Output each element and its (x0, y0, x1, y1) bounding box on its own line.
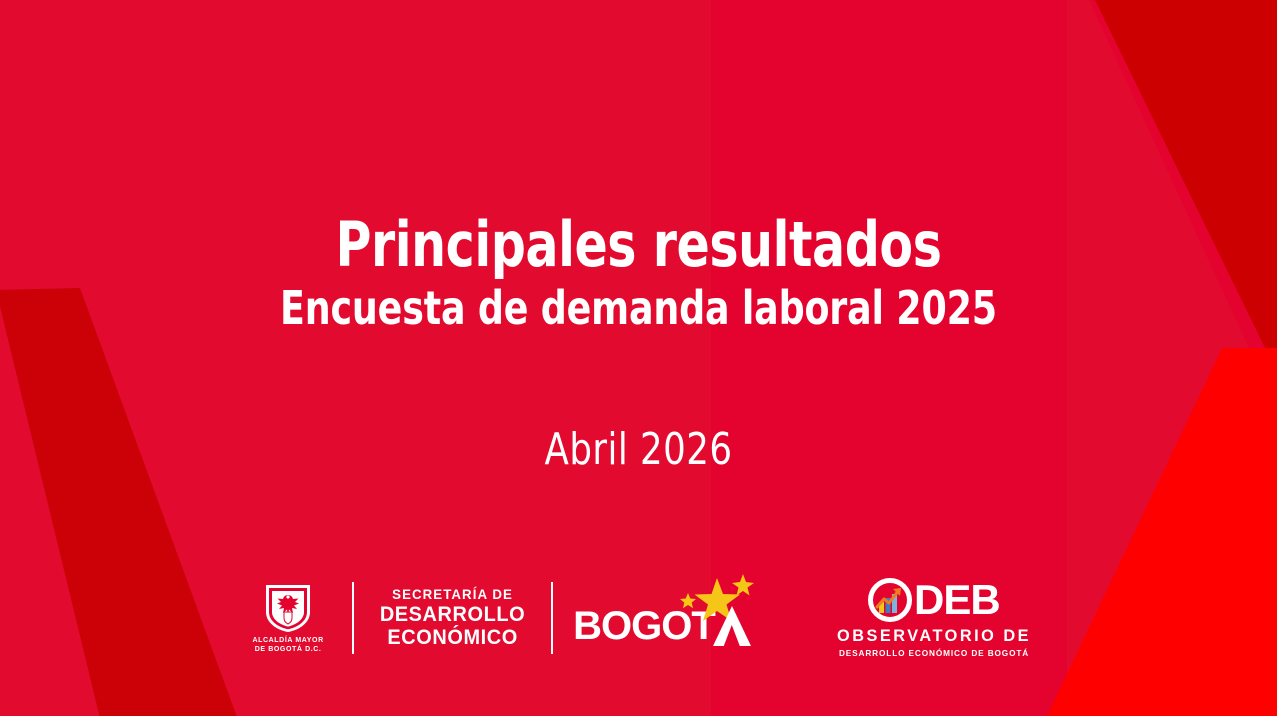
odeb-acronym-row: DEB (868, 578, 1000, 622)
odeb-acronym-letters: DEB (914, 581, 1000, 620)
odeb-caption-line1: OBSERVATORIO DE (837, 626, 1031, 646)
slide-content: Principales resultados Encuesta de deman… (0, 0, 1277, 716)
institutional-logo-lockup: ALCALDÍA MAYOR DE BOGOTÁ D.C. SECRETARÍA… (242, 572, 753, 664)
secretaria-line2: DESARROLLO (380, 603, 525, 627)
logo-divider-2 (551, 582, 553, 654)
page-title: Principales resultados (77, 214, 1201, 276)
bogota-coat-of-arms-shield-icon (261, 582, 315, 634)
secretaria-line3: ECONÓMICO (387, 626, 517, 650)
alcaldia-mayor-logo: ALCALDÍA MAYOR DE BOGOTÁ D.C. (242, 582, 334, 655)
secretaria-line1: SECRETARÍA DE (392, 586, 513, 602)
slide-date: Abril 2026 (64, 424, 1213, 475)
presentation-slide: Principales resultados Encuesta de deman… (0, 0, 1277, 716)
alcaldia-caption-line1: ALCALDÍA MAYOR (252, 637, 323, 646)
odeb-circle-o (868, 578, 912, 622)
title-block: Principales resultados Encuesta de deman… (0, 214, 1277, 332)
logo-bar: ALCALDÍA MAYOR DE BOGOTÁ D.C. SECRETARÍA… (0, 568, 1277, 668)
secretaria-desarrollo-economico-logo: SECRETARÍA DE DESARROLLO ECONÓMICO (372, 586, 533, 649)
bogota-city-logo: BOGOT (571, 572, 753, 664)
bogota-wordmark: BOGOT (573, 606, 751, 646)
logo-divider-1 (352, 582, 354, 654)
alcaldia-caption-line2: DE BOGOTÁ D.C. (252, 646, 323, 655)
page-subtitle: Encuesta de demanda laboral 2025 (77, 284, 1201, 332)
alcaldia-logo-caption: ALCALDÍA MAYOR DE BOGOTÁ D.C. (252, 637, 323, 655)
odeb-caption-line2: DESARROLLO ECONÓMICO DE BOGOTÁ (839, 648, 1029, 658)
odeb-logo: DEB OBSERVATORIO DE DESARROLLO ECONÓMICO… (833, 578, 1035, 658)
growth-chart-icon (873, 583, 907, 617)
bogota-stylized-a-letter (713, 606, 751, 646)
